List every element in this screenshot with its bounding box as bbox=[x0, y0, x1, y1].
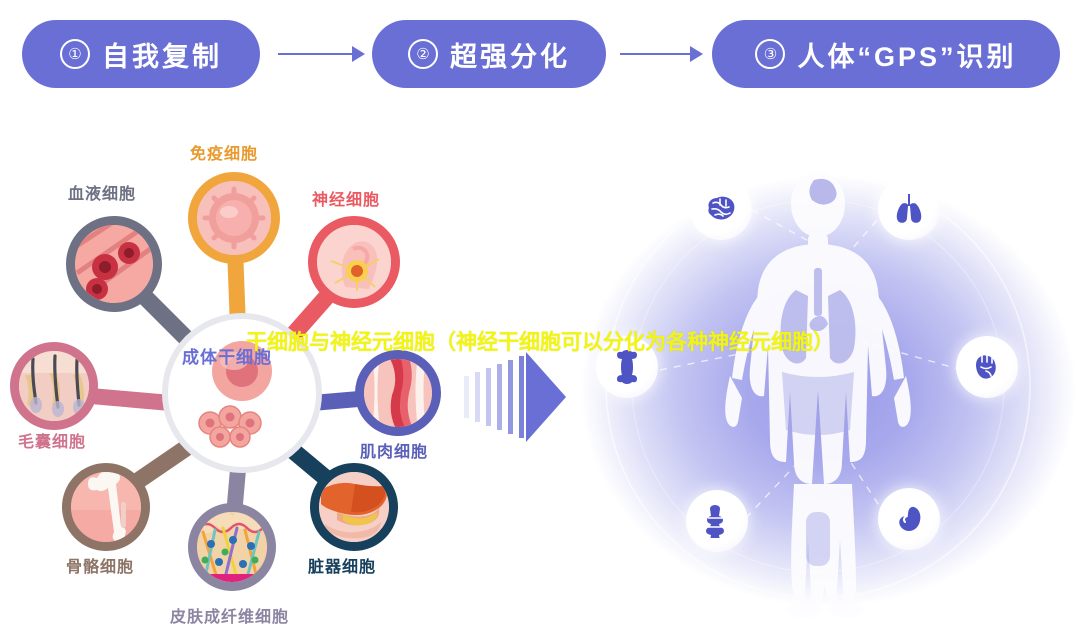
node-hair-follicle-cell[interactable] bbox=[10, 342, 98, 430]
organ-icon-brain[interactable] bbox=[690, 178, 752, 240]
human-body-gps-panel bbox=[556, 140, 1080, 642]
node-muscle-cell[interactable] bbox=[355, 350, 441, 436]
step-arrow-head-1 bbox=[352, 46, 365, 62]
label-neuron-cell: 神经细胞 bbox=[312, 186, 380, 210]
label-skin-fibroblast-cell: 皮肤成纤维细胞 bbox=[170, 603, 289, 627]
hair-follicle-icon bbox=[19, 351, 89, 421]
process-steps-bar: ① 自我复制 ② 超强分化 ③ 人体“GPS”识别 bbox=[0, 20, 1080, 108]
muscle-cell-icon bbox=[364, 359, 432, 427]
label-hair-follicle-cell: 毛囊细胞 bbox=[18, 428, 86, 452]
node-neuron-cell[interactable] bbox=[308, 216, 400, 308]
step-label-1: 自我复制 bbox=[102, 35, 222, 74]
label-blood-cell: 血液细胞 bbox=[68, 180, 136, 204]
infographic-canvas: ① 自我复制 ② 超强分化 ③ 人体“GPS”识别 bbox=[0, 0, 1080, 642]
bone-cell-icon bbox=[71, 472, 141, 542]
bone-icon bbox=[614, 350, 640, 384]
label-stem-cell: 成体干细胞 bbox=[182, 343, 272, 368]
cell-differentiation-network: 成体干细胞 血液细胞 bbox=[0, 118, 520, 642]
brain-icon bbox=[704, 192, 738, 226]
step-label-2: 超强分化 bbox=[450, 35, 570, 74]
label-organ-cell: 脏器细胞 bbox=[308, 553, 376, 577]
label-muscle-cell: 肌肉细胞 bbox=[360, 438, 428, 462]
organ-icon-knee-joint[interactable] bbox=[686, 490, 748, 552]
neuron-cell-icon bbox=[317, 225, 391, 299]
step-pill-2[interactable]: ② 超强分化 bbox=[372, 20, 606, 88]
step-label-3: 人体“GPS”识别 bbox=[797, 35, 1016, 74]
node-blood-cell[interactable] bbox=[66, 216, 162, 312]
kidney-icon bbox=[893, 503, 925, 535]
node-bone-cell[interactable] bbox=[62, 463, 150, 551]
heart-icon bbox=[971, 351, 1003, 383]
step-pill-1[interactable]: ① 自我复制 bbox=[22, 20, 260, 88]
blood-cell-icon bbox=[75, 225, 153, 303]
organ-icon-bone[interactable] bbox=[596, 336, 658, 398]
skin-fibroblast-icon bbox=[197, 512, 267, 582]
organ-icon-heart[interactable] bbox=[956, 336, 1018, 398]
step-pill-3[interactable]: ③ 人体“GPS”识别 bbox=[712, 20, 1060, 88]
step-number-1: ① bbox=[60, 39, 90, 69]
knee-joint-icon bbox=[702, 504, 732, 538]
step-arrow-line-1 bbox=[278, 53, 356, 55]
node-organ-cell[interactable] bbox=[310, 463, 398, 551]
stem-cell-illustration bbox=[168, 319, 316, 467]
node-stem-cell[interactable] bbox=[162, 313, 322, 473]
organ-icon-lungs[interactable] bbox=[878, 178, 940, 240]
step-number-3: ③ bbox=[755, 39, 785, 69]
immune-cell-icon bbox=[197, 181, 271, 255]
node-immune-cell[interactable] bbox=[188, 172, 280, 264]
organ-icon-kidney[interactable] bbox=[878, 488, 940, 550]
label-bone-cell: 骨骼细胞 bbox=[66, 553, 134, 577]
step-arrow-line-2 bbox=[620, 53, 694, 55]
lungs-icon bbox=[892, 192, 926, 226]
step-arrow-head-2 bbox=[690, 46, 703, 62]
step-number-2: ② bbox=[408, 39, 438, 69]
label-immune-cell: 免疫细胞 bbox=[190, 140, 258, 164]
organ-cell-icon bbox=[319, 472, 389, 542]
node-skin-fibroblast-cell[interactable] bbox=[188, 503, 276, 591]
